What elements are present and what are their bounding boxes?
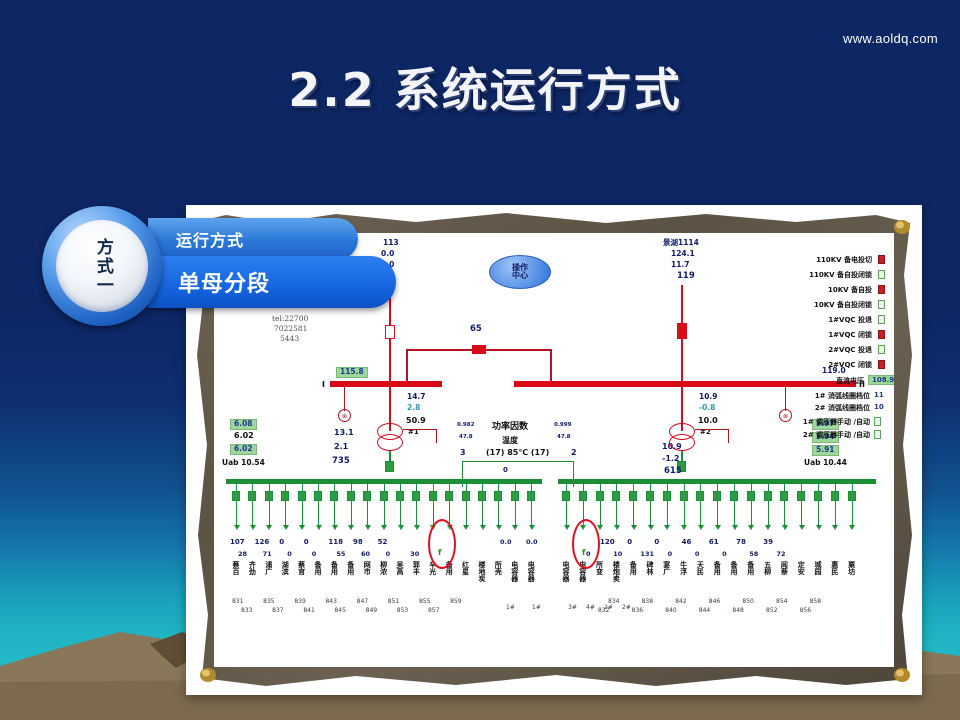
feeder-left-code-bot-0: 833 xyxy=(241,608,252,614)
feeder-right-row1-6: 39 xyxy=(763,539,773,546)
volt-left-c: 6.02 xyxy=(230,444,257,455)
pf-left-count: 3 xyxy=(460,449,466,457)
xfmr2-lv-p: 10.9 xyxy=(662,443,682,451)
feeder-left-cap-tag-0: 1# xyxy=(506,605,515,611)
feeder-right-5-breaker[interactable] xyxy=(646,491,654,501)
regulator-indicator-0[interactable] xyxy=(874,417,881,426)
feeder-right-code-bot-1: 836 xyxy=(632,608,643,614)
feeder-right-6-breaker[interactable] xyxy=(663,491,671,501)
xfmr2-p: 10.9 xyxy=(699,393,718,401)
status-row-label-7: 2#VQC 闭锁 xyxy=(784,360,872,370)
feeder-right-cap-tag-1: 4# xyxy=(586,605,595,611)
feeder-left-name-16: 所壳 xyxy=(494,561,501,575)
feeder-left-row2-1: 71 xyxy=(263,551,272,558)
feeder-left-3-arrow xyxy=(283,525,289,530)
feeder-right-row1-2: 0 xyxy=(654,539,659,546)
arc-coil-label-0: 1# 消弧线圈档位 xyxy=(780,391,870,401)
feeder-left-code-bot-1: 837 xyxy=(272,608,283,614)
feeder-right-15-arrow xyxy=(816,525,822,530)
page-title: 2.2 系统运行方式 xyxy=(0,54,960,120)
banner-main-label: 单母分段 xyxy=(178,266,270,298)
volt-left-a: 6.08 xyxy=(230,419,257,430)
feeder-right-13-breaker[interactable] xyxy=(780,491,788,501)
xfmr2-aux-line xyxy=(695,429,729,430)
watermark-url: www.aoldq.com xyxy=(843,31,938,46)
incomer-left-name: 113 xyxy=(383,239,399,247)
volt-left-b: 6.02 xyxy=(234,432,254,440)
op-center-line2: 中心 xyxy=(512,272,528,280)
feeder-right-17-arrow xyxy=(849,525,855,530)
feeder-left-name-3: 湖滨 xyxy=(281,561,288,575)
status-row-label-2: 10KV 备自投 xyxy=(784,285,872,295)
feeder-right-name-7: 牛浮 xyxy=(680,561,687,575)
feeder-left-name-17: 电容器 xyxy=(511,561,518,582)
feeder-left-6-breaker[interactable] xyxy=(330,491,338,501)
feeder-left-7-breaker[interactable] xyxy=(347,491,355,501)
bus-bar-left[interactable] xyxy=(330,381,442,387)
feeder-left-9-breaker[interactable] xyxy=(380,491,388,501)
feeder-right-12-arrow xyxy=(765,525,771,530)
feeder-left-code-bot-6: 857 xyxy=(428,608,439,614)
xfmr1-aux-line xyxy=(403,429,437,430)
feeder-right-code-bot-6: 856 xyxy=(800,608,811,614)
feeder-right-name-3: 楼炮卖 xyxy=(612,561,619,582)
feeder-right-row2-5: 0 xyxy=(722,551,727,558)
feeder-left-10-arrow xyxy=(398,525,404,530)
feeder-right-name-10: 备用 xyxy=(730,561,737,575)
feeder-left-16-breaker[interactable] xyxy=(494,491,502,501)
xfmr1-lv-p: 13.1 xyxy=(334,429,354,437)
feeder-right-cap-tag-3: 2# xyxy=(622,605,631,611)
feeder-right-5-arrow xyxy=(648,525,654,530)
feeder-right-code-top-6: 858 xyxy=(810,599,821,605)
feeder-left-11-breaker[interactable] xyxy=(412,491,420,501)
feeder-left-8-breaker[interactable] xyxy=(363,491,371,501)
feeder-right-name-5: 碑林 xyxy=(646,561,653,575)
xfmr2-q: -0.8 xyxy=(699,404,715,412)
xfmr1-q: 2.8 xyxy=(407,404,420,412)
feeder-right-17-breaker[interactable] xyxy=(848,491,856,501)
pf-center-reading: (17) 85℃ (17) xyxy=(486,449,549,457)
feeder-left-0-arrow xyxy=(234,525,240,530)
feeder-left-18-arrow xyxy=(529,525,535,530)
incomer-right-v2: 11.7 xyxy=(671,261,690,269)
feeder-left-row1-2: 0 xyxy=(279,539,284,546)
volt-left-uab: Uab 10.54 xyxy=(222,459,265,467)
status-row-label-6: 2#VQC 投退 xyxy=(784,345,872,355)
feeder-right-row2-3: 0 xyxy=(668,551,673,558)
status-indicator-2[interactable] xyxy=(878,285,885,294)
dc-voltage-label: 直流电压 xyxy=(792,376,864,386)
xfmr2-aux-drop xyxy=(728,429,729,443)
cap-mid-value: 0 xyxy=(503,467,508,474)
feeder-left-1-breaker[interactable] xyxy=(248,491,256,501)
feeder-left-3-breaker[interactable] xyxy=(281,491,289,501)
xfmr1-p: 14.7 xyxy=(407,393,426,401)
feeder-left-name-0: 蔡百 xyxy=(232,561,239,575)
feeder-left-18-breaker[interactable] xyxy=(527,491,535,501)
xfmr2-lv-i: 615 xyxy=(664,467,682,476)
feeder-left-17-arrow xyxy=(512,525,518,530)
feeder-left-name-11: 郭丰 xyxy=(412,561,419,575)
feeder-right-8-arrow xyxy=(698,525,704,530)
feeder-left-cap-tag-1: 1# xyxy=(532,605,541,611)
feeder-right-name-17: 粟坊 xyxy=(848,561,855,575)
operation-center-node[interactable]: 操作 中心 xyxy=(489,255,551,289)
feeder-right-3-arrow xyxy=(614,525,620,530)
feeder-left-10-breaker[interactable] xyxy=(396,491,404,501)
feeder-left-5-arrow xyxy=(316,525,322,530)
xfmr1-lv-i: 735 xyxy=(332,457,350,466)
feeder-right-10-breaker[interactable] xyxy=(730,491,738,501)
feeder-left-name-8: 网市 xyxy=(363,561,370,575)
status-indicator-1[interactable] xyxy=(878,270,885,279)
feeder-right-9-breaker[interactable] xyxy=(713,491,721,501)
xfmr2-tap: 10.0 xyxy=(698,417,718,425)
volt-right-uab: Uab 10.44 xyxy=(804,459,847,467)
banner-top-label: 运行方式 xyxy=(176,227,244,251)
feeder-left-name-6: 备用 xyxy=(330,561,337,575)
tie-value: 65 xyxy=(470,325,482,334)
feeder-right-cap-tag-0: 3# xyxy=(568,605,577,611)
xfmr1-tag: #1 xyxy=(408,429,419,436)
feeder-right-name-9: 备用 xyxy=(713,561,720,575)
pf-left-temp: 47.8 xyxy=(459,435,473,441)
feeder-right-row2-4: 0 xyxy=(695,551,700,558)
xfmr1-ct-lead xyxy=(344,387,345,411)
feeder-left-17-breaker[interactable] xyxy=(511,491,519,501)
feeder-right-9-arrow xyxy=(715,525,721,530)
feeder-left-13-breaker[interactable] xyxy=(445,491,453,501)
bus-left-label: I xyxy=(322,381,325,389)
highlight-ellipse-right xyxy=(572,519,600,569)
feeder-right-11-arrow xyxy=(748,525,754,530)
status-indicator-6[interactable] xyxy=(878,345,885,354)
alarm-tel-2: 7022581 xyxy=(274,325,307,333)
feeder-left-2-breaker[interactable] xyxy=(265,491,273,501)
feeder-right-name-16: 惠民 xyxy=(831,561,838,575)
feeder-left-15-arrow xyxy=(480,525,486,530)
feeder-left-row1-4: 118 xyxy=(328,539,343,546)
feeder-right-0-arrow xyxy=(564,525,570,530)
regulator-indicator-1[interactable] xyxy=(874,430,881,439)
alarm-tel-3: 5443 xyxy=(280,335,299,343)
feeder-right-3-breaker[interactable] xyxy=(612,491,620,501)
feeder-left-code-top-3: 843 xyxy=(325,599,336,605)
feeder-left-name-15: 楼地炭 xyxy=(478,561,485,582)
incomer-left-breaker[interactable] xyxy=(385,325,395,339)
feeder-left-row2-4: 55 xyxy=(336,551,345,558)
feeder-left-12-breaker[interactable] xyxy=(429,491,437,501)
pf-right-value: 0.999 xyxy=(554,423,571,429)
feeder-right-cap-tag-2: 2# xyxy=(604,605,613,611)
feeder-left-row2-0: 28 xyxy=(238,551,247,558)
feeder-left-4-breaker[interactable] xyxy=(298,491,306,501)
feeder-right-6-arrow xyxy=(664,525,670,530)
mode-badge[interactable]: 方式一 xyxy=(42,206,162,326)
regulator-label-0: 1# 调压器手动 /自动 xyxy=(766,417,870,427)
status-row-label-1: 110KV 备自投闭锁 xyxy=(784,270,872,280)
feeder-right-row1-0: 120 xyxy=(600,539,615,546)
status-indicator-5[interactable] xyxy=(878,330,885,339)
feeder-right-1-breaker[interactable] xyxy=(579,491,587,501)
feeder-left-15-breaker[interactable] xyxy=(478,491,486,501)
feeder-left-code-bot-3: 845 xyxy=(334,608,345,614)
highlight-ellipse-left xyxy=(428,519,456,569)
feeder-left-name-7: 备用 xyxy=(347,561,354,575)
pf-right-count: 2 xyxy=(571,449,577,457)
feeder-right-14-arrow xyxy=(799,525,805,530)
pf-subtitle: 温度 xyxy=(502,437,518,445)
xfmr2-lv-q: -1.2 xyxy=(662,455,680,463)
feeder-left-row1-1: 126 xyxy=(255,539,270,546)
alarm-tel-1: tel:22700 xyxy=(272,315,308,323)
incomer-right-v1: 124.1 xyxy=(671,250,695,258)
tie-left-drop xyxy=(406,349,408,383)
feeder-right-row2-6: 58 xyxy=(749,551,758,558)
status-row-label-3: 10KV 备自投闭锁 xyxy=(784,300,872,310)
feeder-right-2-breaker[interactable] xyxy=(596,491,604,501)
feeder-right-10-arrow xyxy=(732,525,738,530)
tie-breaker[interactable] xyxy=(472,345,486,354)
feeder-left-row1-3: 0 xyxy=(304,539,309,546)
feeder-right-7-arrow xyxy=(681,525,687,530)
feeder-left-name-14: 红星 xyxy=(462,561,469,575)
incomer-right-name: 景湖1114 xyxy=(663,239,699,247)
feeder-left-code-top-6: 855 xyxy=(419,599,430,605)
feeder-right-4-breaker[interactable] xyxy=(629,491,637,501)
feeder-right-code-top-1: 838 xyxy=(642,599,653,605)
feeder-right-15-breaker[interactable] xyxy=(814,491,822,501)
feeder-right-name-4: 备用 xyxy=(629,561,636,575)
feeder-left-16-arrow xyxy=(496,525,502,530)
volt-right-c: 5.91 xyxy=(812,445,839,456)
feeder-right-14-breaker[interactable] xyxy=(797,491,805,501)
feeder-left-row2-7: 30 xyxy=(410,551,419,558)
feeder-right-7-breaker[interactable] xyxy=(680,491,688,501)
feeder-right-name-11: 备用 xyxy=(747,561,754,575)
feeder-left-4-arrow xyxy=(299,525,305,530)
feeder-left-code-top-0: 831 xyxy=(232,599,243,605)
feeder-left-code-top-7: 859 xyxy=(450,599,461,605)
feeder-left-code-top-1: 835 xyxy=(263,599,274,605)
incomer-right-v3: 119 xyxy=(677,272,695,281)
dc-voltage-value: 108.9 xyxy=(868,375,894,385)
mode-badge-inner: 方式一 xyxy=(56,220,148,312)
feeder-left-code-top-5: 851 xyxy=(388,599,399,605)
feeder-left-row2-5: 60 xyxy=(361,551,370,558)
pf-left-value: 0.982 xyxy=(457,423,474,429)
feeder-right-code-top-2: 842 xyxy=(675,599,686,605)
feeder-right-name-2: 所变 xyxy=(596,561,603,575)
feeder-right-row2-1: 10 xyxy=(613,551,622,558)
feeder-left-0-breaker[interactable] xyxy=(232,491,240,501)
xfmr2-tag: #2 xyxy=(700,429,711,436)
feeder-right-code-bot-2: 840 xyxy=(665,608,676,614)
banner-single-bus-section[interactable]: 单母分段 xyxy=(148,256,396,308)
feeder-left-row1-0: 107 xyxy=(230,539,245,546)
feeder-left-8-arrow xyxy=(365,525,371,530)
regulator-label-1: 2# 调压器手动 /自动 xyxy=(766,430,870,440)
status-indicator-7[interactable] xyxy=(878,360,885,369)
pf-right-temp: 47.8 xyxy=(557,435,571,441)
feeder-right-name-8: 天民 xyxy=(696,561,703,575)
feeder-left-5-breaker[interactable] xyxy=(314,491,322,501)
feeder-left-6-arrow xyxy=(332,525,338,530)
feeder-right-code-top-4: 850 xyxy=(742,599,753,605)
feeder-right-name-12: 五柳 xyxy=(764,561,771,575)
feeder-right-4-arrow xyxy=(631,525,637,530)
incomer-left-v1: 0.0 xyxy=(381,250,394,258)
feeder-left-name-4: 蔡官 xyxy=(298,561,305,575)
feeder-right-name-13: 阎萘 xyxy=(780,561,787,575)
feeder-left-row1-6: 52 xyxy=(378,539,388,546)
feeder-left-7-arrow xyxy=(348,525,354,530)
feeder-right-0-breaker[interactable] xyxy=(562,491,570,501)
feeder-right-12-breaker[interactable] xyxy=(764,491,772,501)
xfmr1-lv-q: 2.1 xyxy=(334,443,348,451)
feeder-left-row1-5: 98 xyxy=(353,539,363,546)
feeder-right-16-breaker[interactable] xyxy=(831,491,839,501)
feeder-right-row1-5: 78 xyxy=(736,539,746,546)
incomer-right-breaker[interactable] xyxy=(677,323,687,339)
status-indicator-3[interactable] xyxy=(878,300,885,309)
bus-left-voltage: 115.8 xyxy=(336,367,368,378)
feeder-left-code-bot-4: 849 xyxy=(366,608,377,614)
tie-right-drop xyxy=(550,349,552,383)
mode-badge-label: 方式一 xyxy=(93,238,111,295)
feeder-right-code-bot-4: 848 xyxy=(732,608,743,614)
feeder-left-row2-3: 0 xyxy=(312,551,317,558)
pf-title: 功率因数 xyxy=(492,423,528,432)
feeder-right-row1-1: 0 xyxy=(627,539,632,546)
feeder-left-code-top-4: 847 xyxy=(357,599,368,605)
status-row-label-5: 1#VQC 闭锁 xyxy=(784,330,872,340)
feeder-right-8-breaker[interactable] xyxy=(696,491,704,501)
banner-operation-mode[interactable]: 运行方式 xyxy=(148,218,358,260)
feeder-right-code-top-3: 846 xyxy=(709,599,720,605)
status-row-label-4: 1#VQC 投退 xyxy=(784,315,872,325)
feeder-left-code-top-2: 839 xyxy=(294,599,305,605)
feeder-left-name-5: 备用 xyxy=(314,561,321,575)
feeder-right-row2-7: 72 xyxy=(777,551,786,558)
feeder-left-name-2: 浦广 xyxy=(265,561,272,575)
feeder-right-11-breaker[interactable] xyxy=(747,491,755,501)
xfmr1-tap: 50.9 xyxy=(406,417,426,425)
feeder-right-13-arrow xyxy=(782,525,788,530)
feeder-left-2-arrow xyxy=(266,525,272,530)
feeder-left-code-bot-5: 853 xyxy=(397,608,408,614)
feeder-left-1-arrow xyxy=(250,525,256,530)
feeder-right-name-6: 宴广 xyxy=(663,561,670,575)
feeder-right-2-arrow xyxy=(597,525,603,530)
xfmr1-lv-breaker[interactable] xyxy=(385,461,394,472)
feeder-left-11-arrow xyxy=(414,525,420,530)
status-indicator-4[interactable] xyxy=(878,315,885,324)
feeder-right-16-arrow xyxy=(832,525,838,530)
feeder-right-code-bot-5: 852 xyxy=(766,608,777,614)
feeder-left-row2-6: 0 xyxy=(386,551,391,558)
cap-tie-bar xyxy=(462,461,574,462)
xfmr1-winding-lv xyxy=(377,434,403,451)
feeder-right-code-bot-3: 844 xyxy=(699,608,710,614)
feeder-left-name-1: 齐劲 xyxy=(248,561,255,575)
feeder-left-14-breaker[interactable] xyxy=(462,491,470,501)
arc-coil-value-0: 11 xyxy=(874,391,884,399)
feeder-left-code-bot-2: 841 xyxy=(303,608,314,614)
status-row-label-0: 110KV 备电投切 xyxy=(784,255,872,265)
feeder-left-name-18: 电容器 xyxy=(527,561,534,582)
feeder-left-cap-value-0: 0.0 xyxy=(500,539,512,546)
feeder-left-name-9: 柳浓 xyxy=(380,561,387,575)
feeder-right-row1-4: 61 xyxy=(709,539,719,546)
arc-coil-value-1: 10 xyxy=(874,403,884,411)
feeder-left-cap-value-1: 0.0 xyxy=(526,539,538,546)
feeder-left-14-arrow xyxy=(463,525,469,530)
xfmr1-aux-drop xyxy=(436,429,437,443)
feeder-left-row2-2: 0 xyxy=(287,551,292,558)
feeder-right-name-15: 城园 xyxy=(814,561,821,575)
feeder-right-name-14: 定安 xyxy=(797,561,804,575)
feeder-left-name-10: 吴高 xyxy=(396,561,403,575)
arc-coil-label-1: 2# 消弧线圈档位 xyxy=(780,403,870,413)
feeder-right-row1-3: 46 xyxy=(682,539,692,546)
feeder-right-code-top-5: 854 xyxy=(776,599,787,605)
feeder-right-row2-2: 131 xyxy=(640,551,654,558)
feeder-right-name-0: 电容器 xyxy=(562,561,569,582)
status-indicator-0[interactable] xyxy=(878,255,885,264)
feeder-left-9-arrow xyxy=(381,525,387,530)
